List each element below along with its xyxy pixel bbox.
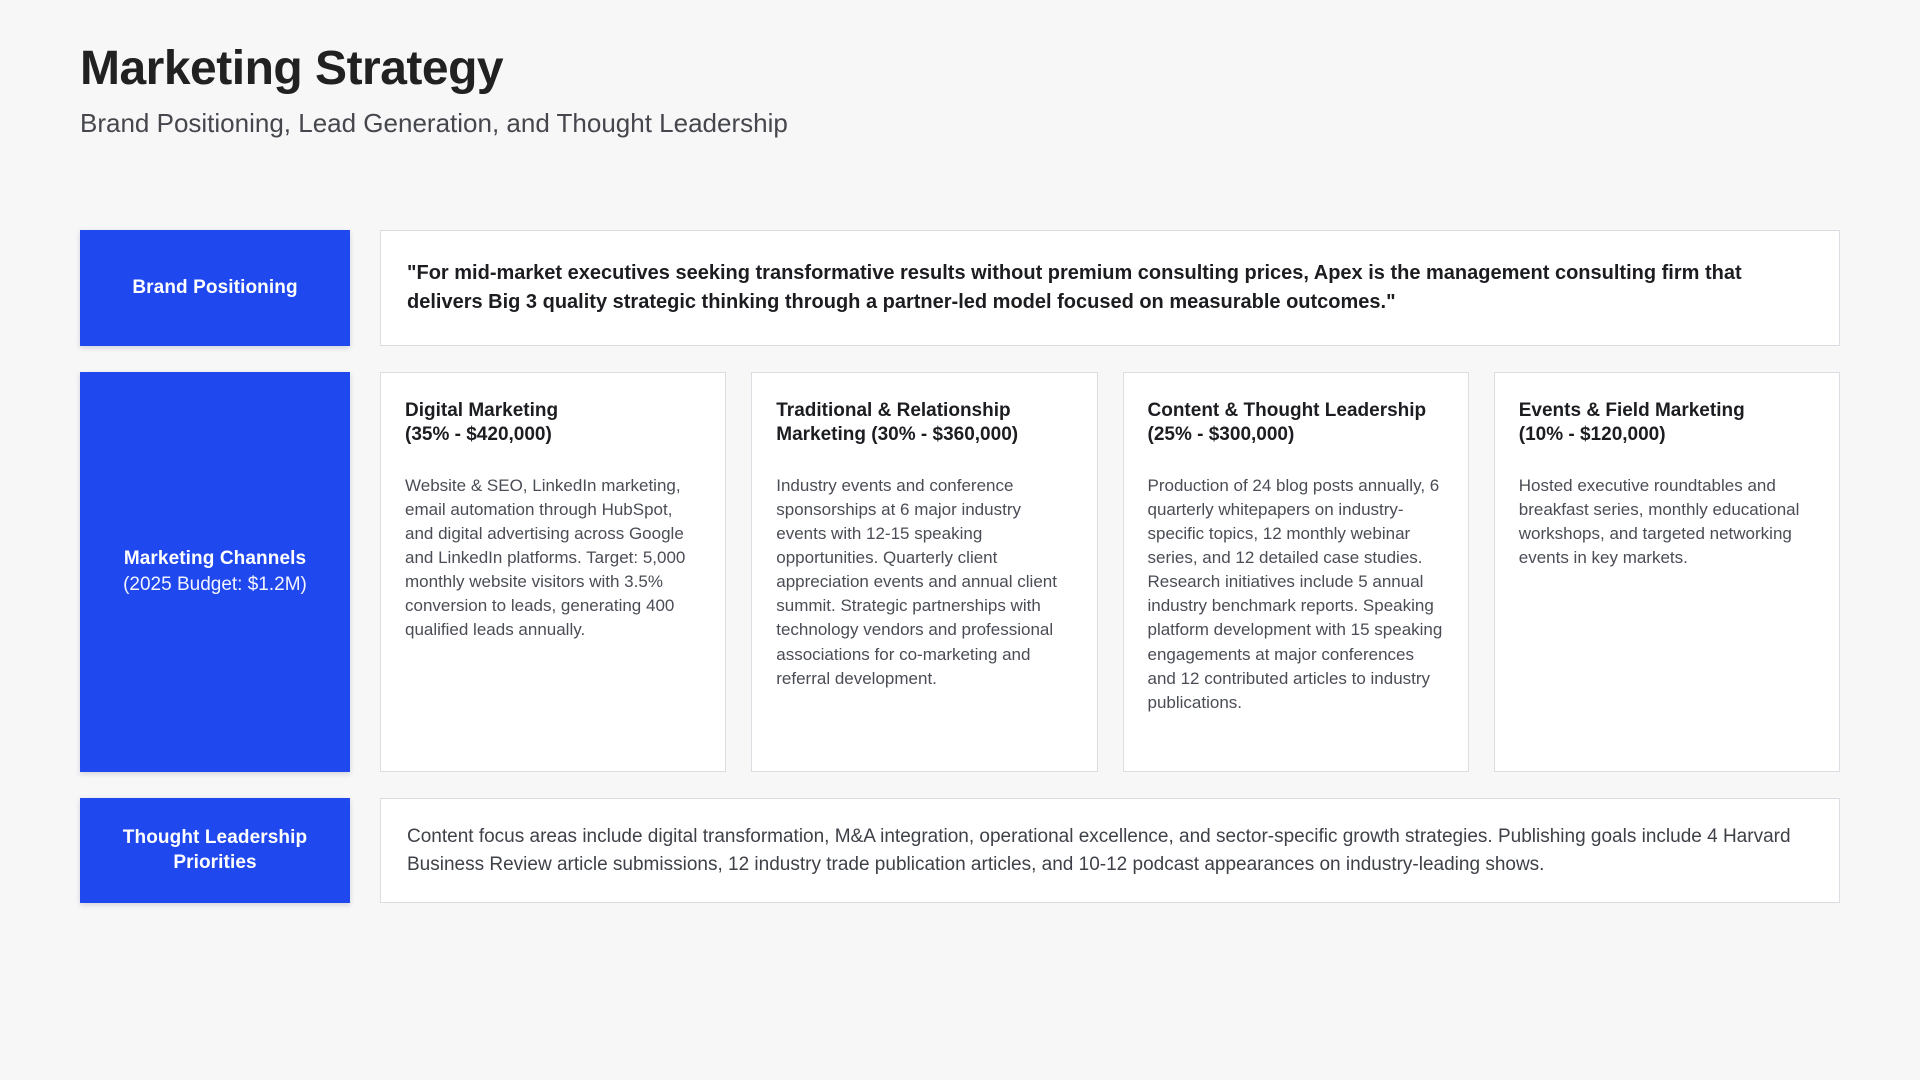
- row-body-thought-leadership-priorities: Content focus areas include digital tran…: [380, 798, 1840, 903]
- channel-card-title: Content & Thought Leadership (25% - $300…: [1148, 399, 1444, 448]
- channel-card-traditional-relationship-marketing: Traditional & Relationship Marketing (30…: [751, 372, 1097, 772]
- row-body-brand-positioning: "For mid-market executives seeking trans…: [380, 230, 1840, 346]
- slide-header: Marketing Strategy Brand Positioning, Le…: [80, 42, 1780, 139]
- content-rows: Brand Positioning "For mid-market execut…: [80, 230, 1840, 903]
- row-body-marketing-channels: Digital Marketing (35% - $420,000) Websi…: [380, 372, 1840, 772]
- channel-card-body: Industry events and conference sponsorsh…: [776, 474, 1072, 691]
- row-label-brand-positioning: Brand Positioning: [80, 230, 350, 346]
- row-label-brand-positioning-text: Brand Positioning: [132, 276, 297, 300]
- channel-card-body: Website & SEO, LinkedIn marketing, email…: [405, 474, 701, 643]
- brand-positioning-quote: "For mid-market executives seeking trans…: [407, 259, 1813, 317]
- channel-card-title: Events & Field Marketing (10% - $120,000…: [1519, 399, 1815, 448]
- row-label-marketing-channels-budget: (2025 Budget: $1.2M): [123, 573, 307, 598]
- channel-card-body: Hosted executive roundtables and breakfa…: [1519, 474, 1815, 571]
- brand-positioning-panel: "For mid-market executives seeking trans…: [380, 230, 1840, 346]
- channel-card-title: Digital Marketing (35% - $420,000): [405, 399, 701, 448]
- row-label-marketing-channels-text: Marketing Channels: [124, 547, 306, 571]
- thought-leadership-body: Content focus areas include digital tran…: [407, 823, 1813, 878]
- slide-root: Marketing Strategy Brand Positioning, Le…: [0, 0, 1920, 1080]
- row-brand-positioning: Brand Positioning "For mid-market execut…: [80, 230, 1840, 346]
- channel-card-title: Traditional & Relationship Marketing (30…: [776, 399, 1072, 448]
- channel-card-events-field-marketing: Events & Field Marketing (10% - $120,000…: [1494, 372, 1840, 772]
- channel-card-content-thought-leadership: Content & Thought Leadership (25% - $300…: [1123, 372, 1469, 772]
- row-label-thought-leadership-priorities-text: Thought Leadership Priorities: [94, 826, 336, 875]
- row-label-thought-leadership-priorities: Thought Leadership Priorities: [80, 798, 350, 903]
- channel-card-digital-marketing: Digital Marketing (35% - $420,000) Websi…: [380, 372, 726, 772]
- page-subtitle: Brand Positioning, Lead Generation, and …: [80, 108, 1780, 139]
- marketing-channel-cards: Digital Marketing (35% - $420,000) Websi…: [380, 372, 1840, 772]
- page-title: Marketing Strategy: [80, 42, 1780, 96]
- thought-leadership-panel: Content focus areas include digital tran…: [380, 798, 1840, 903]
- channel-card-body: Production of 24 blog posts annually, 6 …: [1148, 474, 1444, 715]
- row-label-marketing-channels: Marketing Channels (2025 Budget: $1.2M): [80, 372, 350, 772]
- row-thought-leadership-priorities: Thought Leadership Priorities Content fo…: [80, 798, 1840, 903]
- row-marketing-channels: Marketing Channels (2025 Budget: $1.2M) …: [80, 372, 1840, 772]
